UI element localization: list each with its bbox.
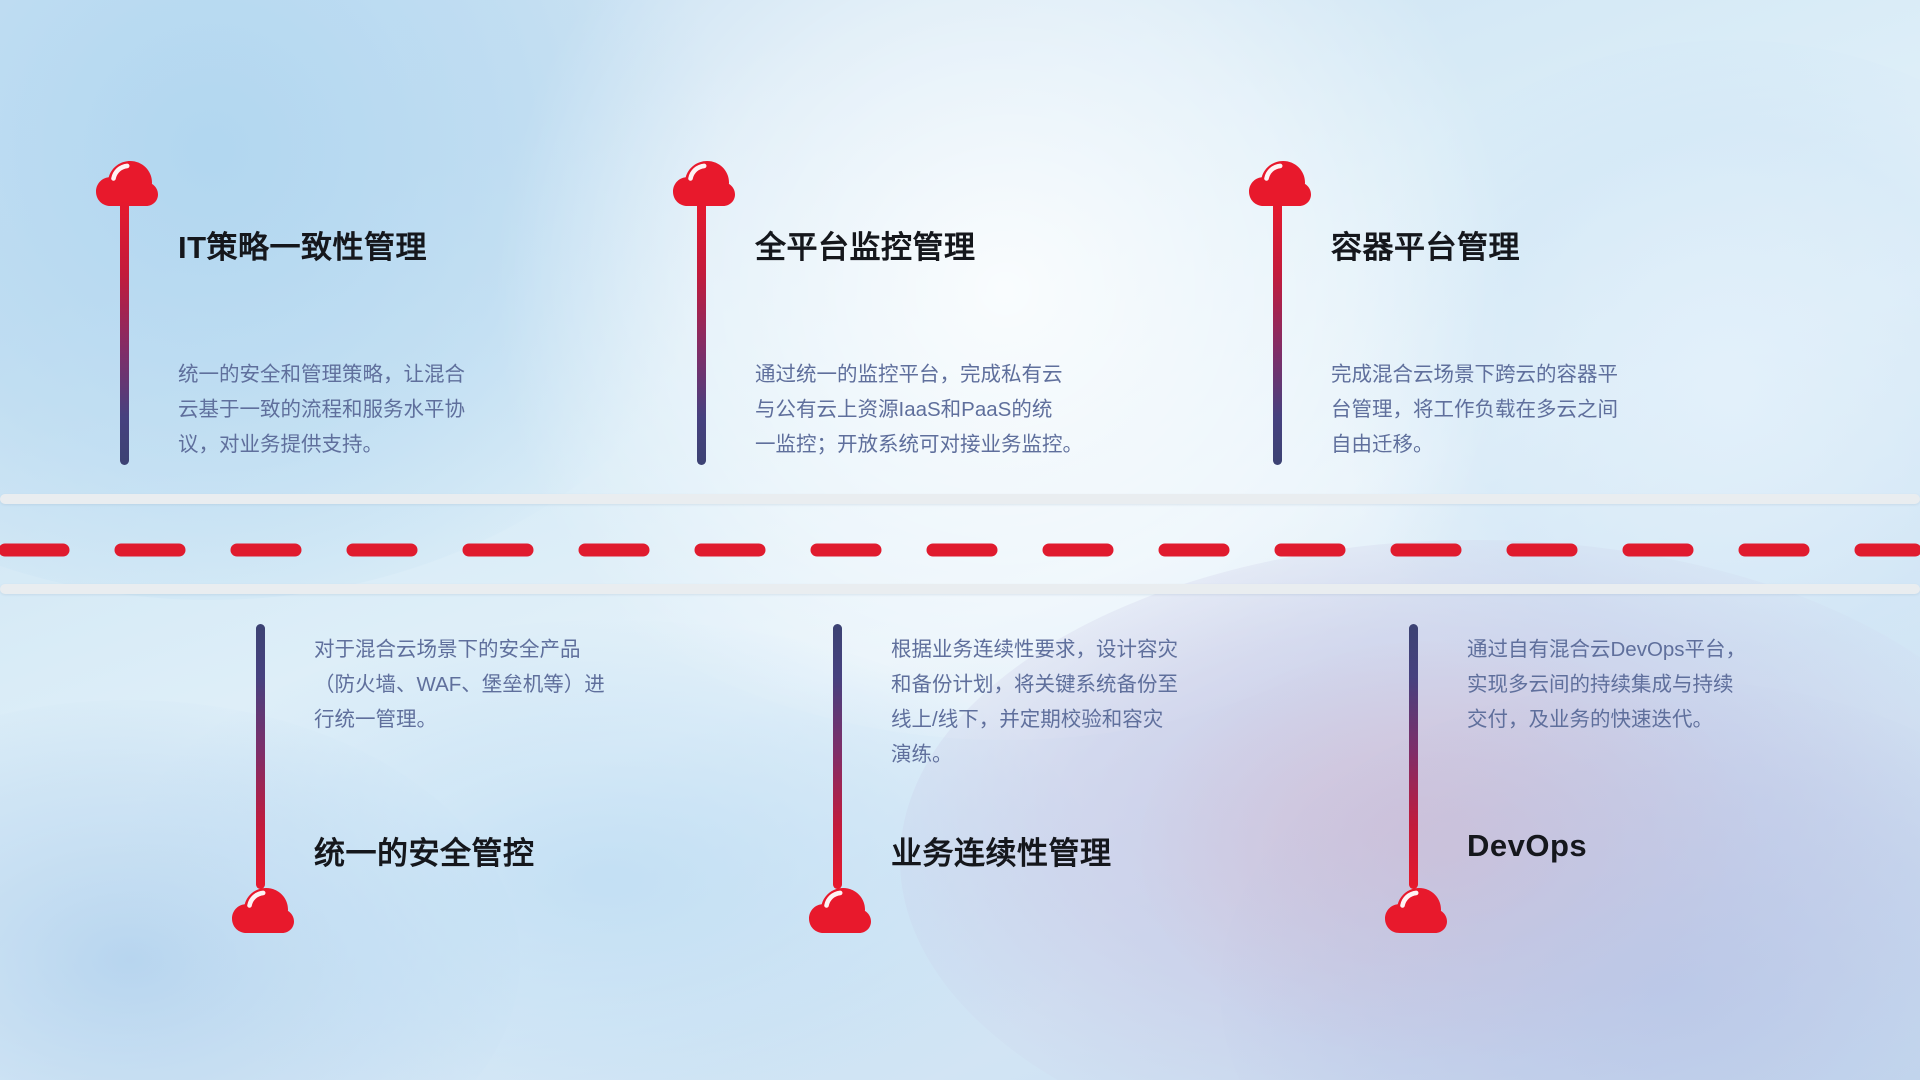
card-heading: 容器平台管理	[1331, 222, 1520, 267]
card-body: 统一的安全和管理策略，让混合 云基于一致的流程和服务水平协 议，对业务提供支持。	[178, 357, 598, 462]
card-heading: IT策略一致性管理	[178, 222, 427, 267]
connector-stem	[697, 200, 706, 465]
card-body-line: 台管理，将工作负载在多云之间	[1331, 392, 1751, 427]
card-body: 完成混合云场景下跨云的容器平 台管理，将工作负载在多云之间 自由迁移。	[1331, 357, 1751, 462]
road-center-dashes	[0, 543, 1920, 557]
connector-stem	[833, 624, 842, 889]
cloud-icon	[809, 888, 871, 934]
infographic-canvas: IT策略一致性管理 统一的安全和管理策略，让混合 云基于一致的流程和服务水平协 …	[0, 0, 1920, 1080]
card-body: 通过统一的监控平台，完成私有云 与公有云上资源IaaS和PaaS的统 一监控；开…	[755, 357, 1195, 462]
card-body-line: 对于混合云场景下的安全产品	[314, 632, 744, 667]
card-heading: 统一的安全管控	[314, 828, 535, 873]
card-heading: 业务连续性管理	[891, 828, 1112, 873]
card-heading: 全平台监控管理	[755, 222, 976, 267]
card-heading: DevOps	[1467, 828, 1587, 864]
connector-stem	[120, 200, 129, 465]
card-body-line: 行统一管理。	[314, 702, 744, 737]
card-body-line: 自由迁移。	[1331, 427, 1751, 462]
card-body: 根据业务连续性要求，设计容灾 和备份计划，将关键系统备份至 线上/线下，并定期校…	[891, 632, 1321, 772]
card-body-line: 根据业务连续性要求，设计容灾	[891, 632, 1321, 667]
card-body-line: （防火墙、WAF、堡垒机等）进	[314, 667, 744, 702]
connector-stem	[1409, 624, 1418, 889]
road-edge-bottom	[0, 584, 1920, 594]
card-body-line: 统一的安全和管理策略，让混合	[178, 357, 598, 392]
connector-stem	[256, 624, 265, 889]
card-body-line: 实现多云间的持续集成与持续	[1467, 667, 1897, 702]
connector-stem	[1273, 200, 1282, 465]
card-body-line: 交付，及业务的快速迭代。	[1467, 702, 1897, 737]
card-body-line: 一监控；开放系统可对接业务监控。	[755, 427, 1195, 462]
background-blob-far-bottom-right	[1220, 680, 1920, 1080]
card-body-line: 和备份计划，将关键系统备份至	[891, 667, 1321, 702]
card-body-line: 通过统一的监控平台，完成私有云	[755, 357, 1195, 392]
card-body-line: 与公有云上资源IaaS和PaaS的统	[755, 392, 1195, 427]
card-body-line: 通过自有混合云DevOps平台，	[1467, 632, 1897, 667]
card-body-line: 议，对业务提供支持。	[178, 427, 598, 462]
cloud-icon	[1385, 888, 1447, 934]
cloud-icon	[232, 888, 294, 934]
background-blob-top-left	[0, 0, 760, 600]
card-body-line: 云基于一致的流程和服务水平协	[178, 392, 598, 427]
card-body: 通过自有混合云DevOps平台， 实现多云间的持续集成与持续 交付，及业务的快速…	[1467, 632, 1897, 737]
card-body-line: 演练。	[891, 737, 1321, 772]
card-body-line: 完成混合云场景下跨云的容器平	[1331, 357, 1751, 392]
card-body-line: 线上/线下，并定期校验和容灾	[891, 702, 1321, 737]
road-edge-top	[0, 494, 1920, 504]
card-body: 对于混合云场景下的安全产品 （防火墙、WAF、堡垒机等）进 行统一管理。	[314, 632, 744, 737]
